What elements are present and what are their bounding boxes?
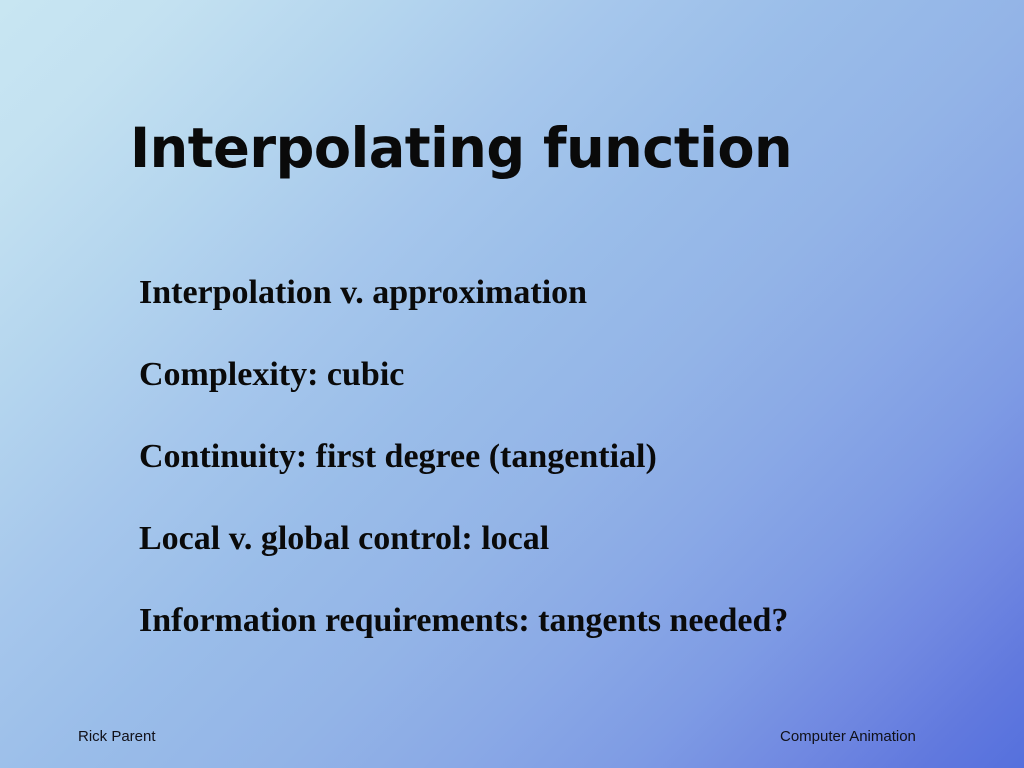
- page-title: Interpolating function: [130, 120, 792, 178]
- list-item: Complexity: cubic: [139, 354, 979, 436]
- footer-course-title: Computer Animation: [780, 728, 916, 745]
- list-item: Local v. global control: local: [139, 518, 979, 600]
- slide-body-list: Interpolation v. approximation Complexit…: [139, 272, 979, 642]
- presentation-slide: Interpolating function Interpolation v. …: [0, 0, 1024, 768]
- slide-title-block: Interpolating function: [130, 106, 930, 192]
- list-item: Information requirements: tangents neede…: [139, 600, 979, 642]
- footer-author: Rick Parent: [78, 728, 156, 745]
- list-item: Continuity: first degree (tangential): [139, 436, 979, 518]
- list-item: Interpolation v. approximation: [139, 272, 979, 354]
